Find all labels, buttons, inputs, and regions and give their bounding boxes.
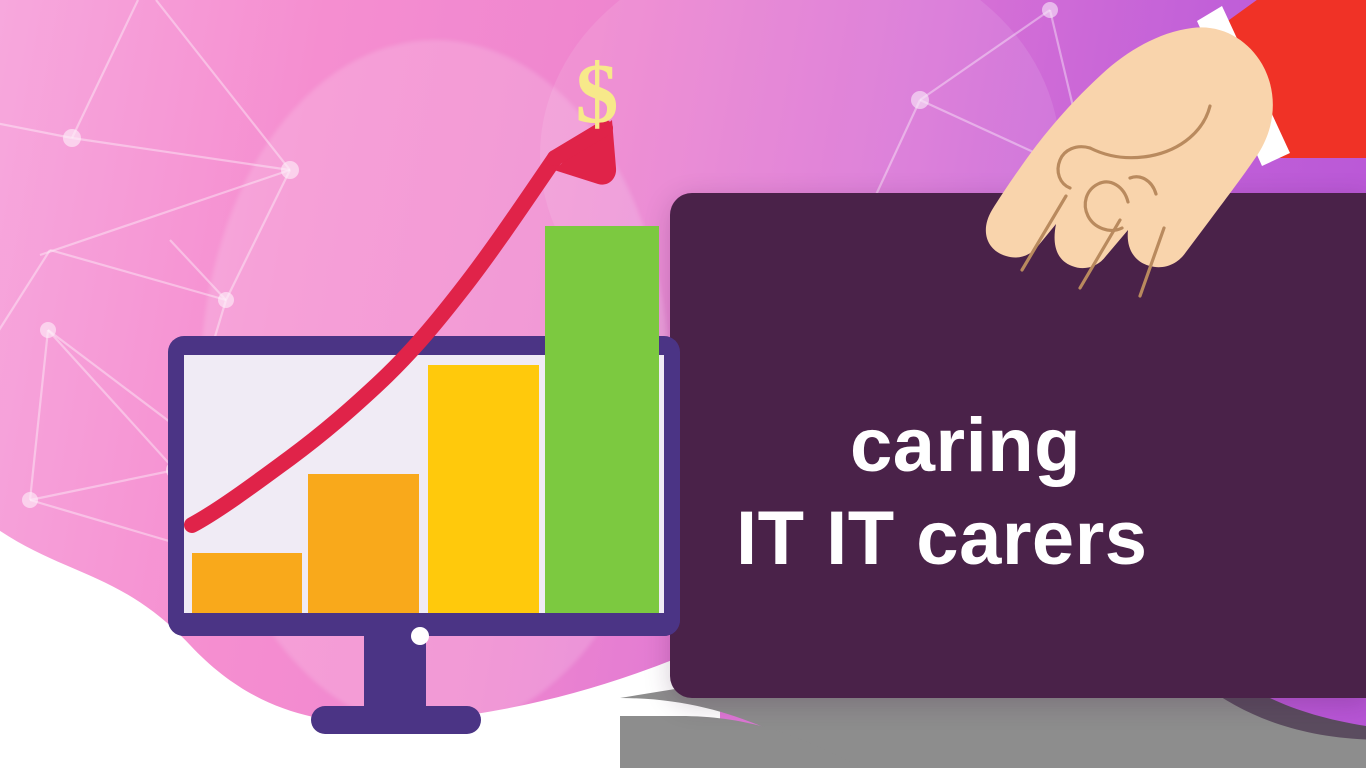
illustration-canvas: caring IT IT carers $ (0, 0, 1366, 768)
open-hand-icon (960, 0, 1366, 328)
monitor-stand-base (311, 706, 481, 734)
dollar-sign-icon: $ (562, 50, 632, 140)
trend-arrow-up-icon (150, 80, 670, 580)
monitor-stand-neck (364, 636, 426, 712)
power-dot-icon (411, 627, 429, 645)
palm-shape (986, 27, 1273, 268)
